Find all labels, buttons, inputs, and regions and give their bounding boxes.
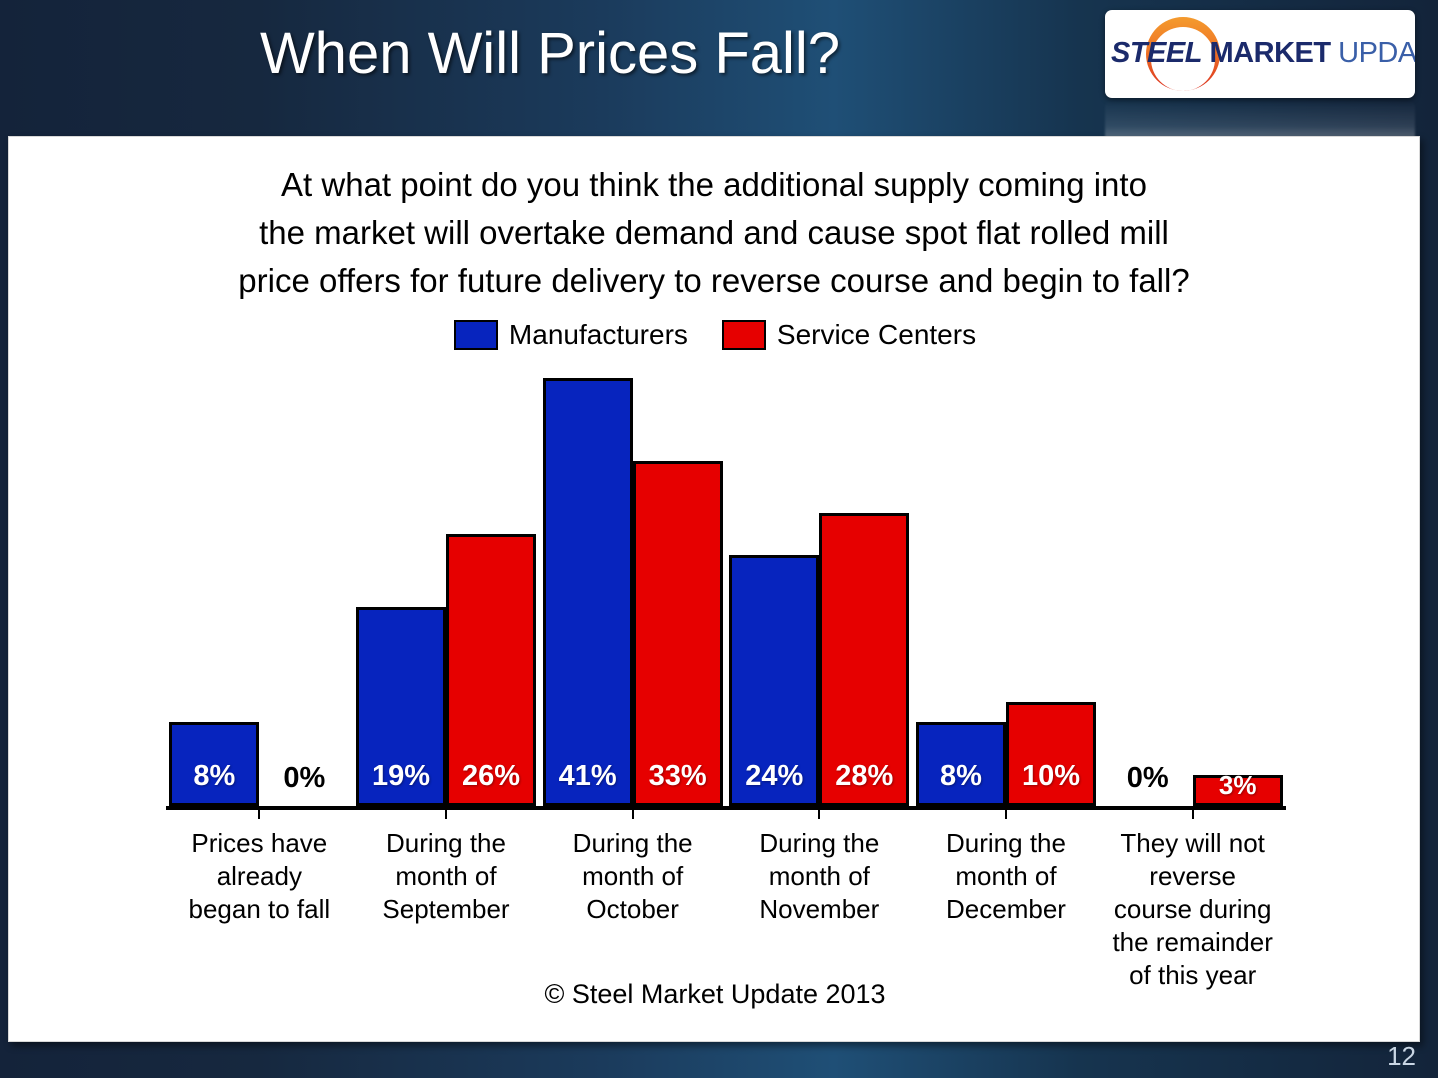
bar-service-centers: 3% <box>1193 775 1283 806</box>
bar-manufacturers: 24% <box>729 555 819 806</box>
x-axis-category-label: During themonth ofSeptember <box>353 827 540 926</box>
category-label-line: October <box>539 893 726 926</box>
page-title: When Will Prices Fall? <box>0 20 1100 87</box>
category-label-line: month of <box>726 860 913 893</box>
slide-canvas: When Will Prices Fall? STEEL MARKET <box>0 0 1438 1078</box>
copyright-notice: © Steel Market Update 2013 <box>9 979 1421 1010</box>
category-label-line: September <box>353 893 540 926</box>
bar-service-centers: 33% <box>633 461 723 806</box>
category-label-line: November <box>726 893 913 926</box>
bar-value-label: 19% <box>372 760 430 793</box>
category-label-line: Prices have <box>166 827 353 860</box>
logo-container: STEEL MARKET UPDATE <box>1105 10 1415 98</box>
category-label-line: During the <box>726 827 913 860</box>
content-panel: At what point do you think the additiona… <box>8 136 1420 1042</box>
logo-word-steel: STEEL <box>1111 37 1202 69</box>
title-bar: When Will Prices Fall? STEEL MARKET <box>0 0 1438 134</box>
category-label-line: They will not <box>1099 827 1286 860</box>
category-label-line: month of <box>353 860 540 893</box>
logo-word-update: UPDATE <box>1331 37 1415 69</box>
bar-value-label: 33% <box>649 760 707 793</box>
x-axis-category-label: Prices havealreadybegan to fall <box>166 827 353 926</box>
category-label-line: month of <box>913 860 1100 893</box>
bar-value-label-zero: 0% <box>259 762 349 795</box>
category-label-line: began to fall <box>166 893 353 926</box>
x-axis-tick <box>445 810 447 819</box>
bar-value-label-zero: 0% <box>1103 762 1193 795</box>
bar-manufacturers: 41% <box>543 378 633 806</box>
x-axis-line <box>166 806 1286 810</box>
category-label-line: the remainder <box>1099 926 1286 959</box>
x-axis-category-label: During themonth ofOctober <box>539 827 726 926</box>
x-axis-tick <box>1005 810 1007 819</box>
logo-wordmark: STEEL MARKET UPDATE <box>1111 36 1411 70</box>
bar-value-label: 3% <box>1219 770 1257 801</box>
bar-value-label: 26% <box>462 760 520 793</box>
brand-logo: STEEL MARKET UPDATE <box>1105 10 1415 98</box>
bar-service-centers: 26% <box>446 534 536 806</box>
bar-value-label: 8% <box>193 760 235 793</box>
category-label-line: During the <box>353 827 540 860</box>
bar-chart-plot: 8%0%Prices havealreadybegan to fall19%26… <box>9 137 1421 1043</box>
bar-value-label: 24% <box>745 760 803 793</box>
x-axis-tick <box>632 810 634 819</box>
category-label-line: December <box>913 893 1100 926</box>
bar-value-label: 8% <box>940 760 982 793</box>
x-axis-tick <box>1192 810 1194 819</box>
category-label-line: During the <box>539 827 726 860</box>
category-label-line: month of <box>539 860 726 893</box>
bar-service-centers: 28% <box>819 513 909 806</box>
bar-manufacturers: 8% <box>916 722 1006 806</box>
x-axis-category-label: During themonth ofNovember <box>726 827 913 926</box>
bar-service-centers: 10% <box>1006 702 1096 807</box>
category-label-line: During the <box>913 827 1100 860</box>
x-axis-category-label: They will notreversecourse duringthe rem… <box>1099 827 1286 992</box>
x-axis-tick <box>818 810 820 819</box>
category-label-line: reverse <box>1099 860 1286 893</box>
logo-word-market: MARKET <box>1202 37 1331 69</box>
page-number: 12 <box>1387 1041 1416 1072</box>
category-label-line: already <box>166 860 353 893</box>
bar-value-label: 28% <box>835 760 893 793</box>
bar-value-label: 10% <box>1022 760 1080 793</box>
bar-manufacturers: 8% <box>169 722 259 806</box>
x-axis-category-label: During themonth ofDecember <box>913 827 1100 926</box>
category-label-line: course during <box>1099 893 1286 926</box>
bar-value-label: 41% <box>559 760 617 793</box>
x-axis-tick <box>258 810 260 819</box>
bar-manufacturers: 19% <box>356 607 446 806</box>
